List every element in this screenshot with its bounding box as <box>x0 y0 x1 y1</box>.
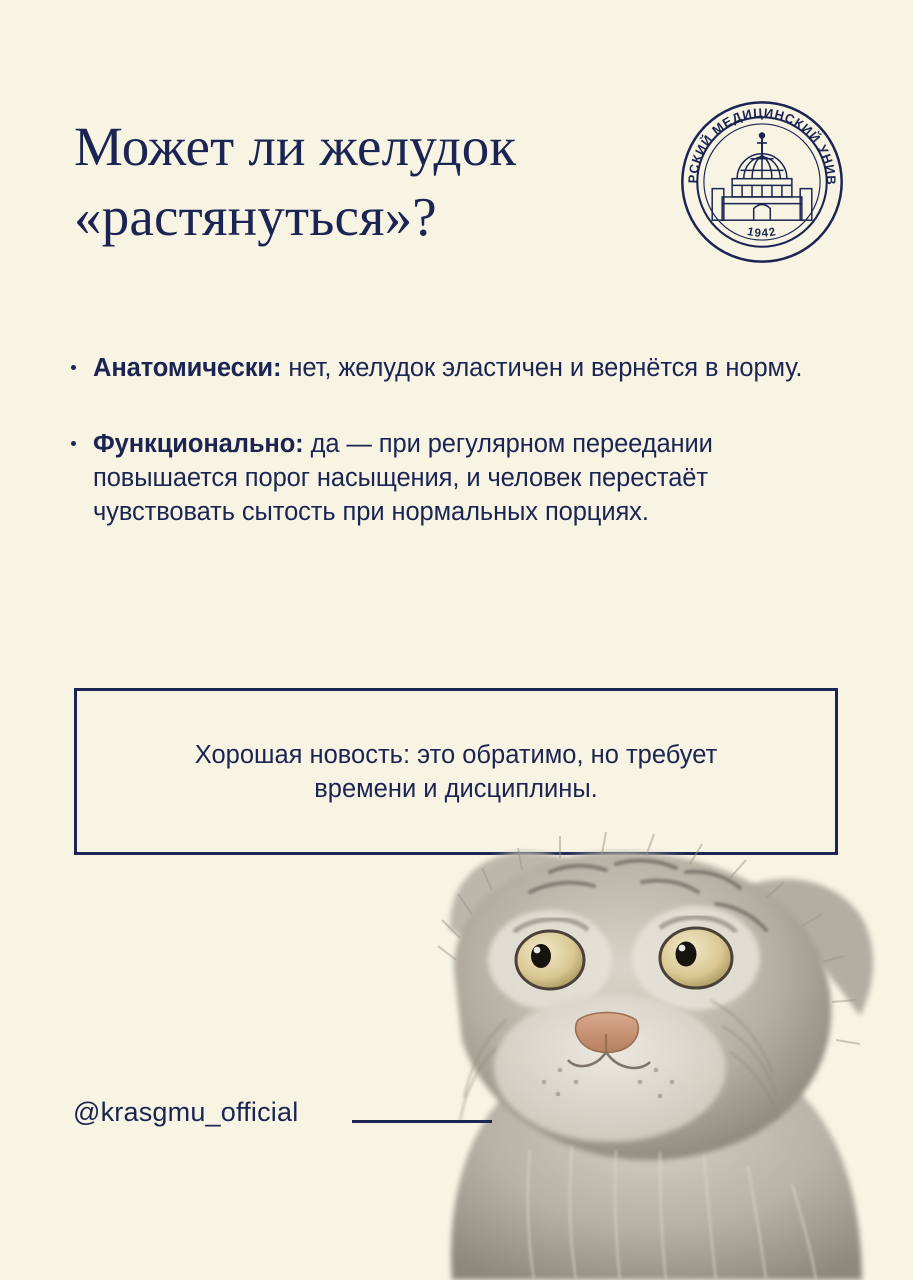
page-title: Может ли желудок «растянуться»? <box>74 112 654 253</box>
bullet-body: нет, желудок эластичен и вернётся в норм… <box>281 354 802 382</box>
bullet-lead: Анатомически: <box>93 354 281 382</box>
university-logo: КРАСНОЯРСКИЙ МЕДИЦИНСКИЙ УНИВЕРСИТЕТ 194… <box>679 99 845 265</box>
callout-box: Хорошая новость: это обратимо, но требуе… <box>74 688 838 855</box>
poster: Может ли желудок «растянуться»? КРАСНОЯР… <box>0 0 913 1280</box>
bullet-list: Анатомически: нет, желудок эластичен и в… <box>66 352 826 530</box>
bullet-item-anatomically: Анатомически: нет, желудок эластичен и в… <box>66 352 826 386</box>
svg-text:1942: 1942 <box>746 225 778 240</box>
bullet-item-functionally: Функционально: да — при регулярном перее… <box>66 428 826 530</box>
bullet-dot-icon <box>71 441 76 446</box>
pallas-cat-photo <box>410 820 913 1280</box>
handle-rule-divider <box>352 1120 492 1123</box>
bullet-dot-icon <box>71 365 76 370</box>
callout-text: Хорошая новость: это обратимо, но требуе… <box>126 737 786 805</box>
instagram-handle[interactable]: @krasgmu_official <box>73 1097 298 1128</box>
bullet-lead: Функционально: <box>93 430 304 458</box>
